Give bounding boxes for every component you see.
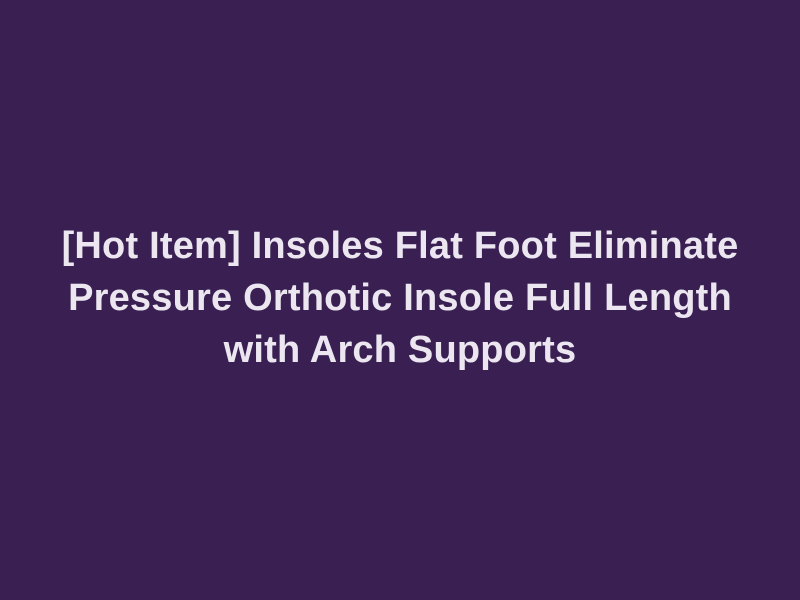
page-title: [Hot Item] Insoles Flat Foot Eliminate P… — [50, 220, 750, 376]
page-title-line-3: with Arch Supports — [50, 324, 750, 376]
page-title-line-2: Pressure Orthotic Insole Full Length — [50, 272, 750, 324]
product-title-card: [Hot Item] Insoles Flat Foot Eliminate P… — [0, 0, 800, 600]
page-title-line-1: [Hot Item] Insoles Flat Foot Eliminate — [50, 220, 750, 272]
title-block: [Hot Item] Insoles Flat Foot Eliminate P… — [50, 220, 750, 380]
